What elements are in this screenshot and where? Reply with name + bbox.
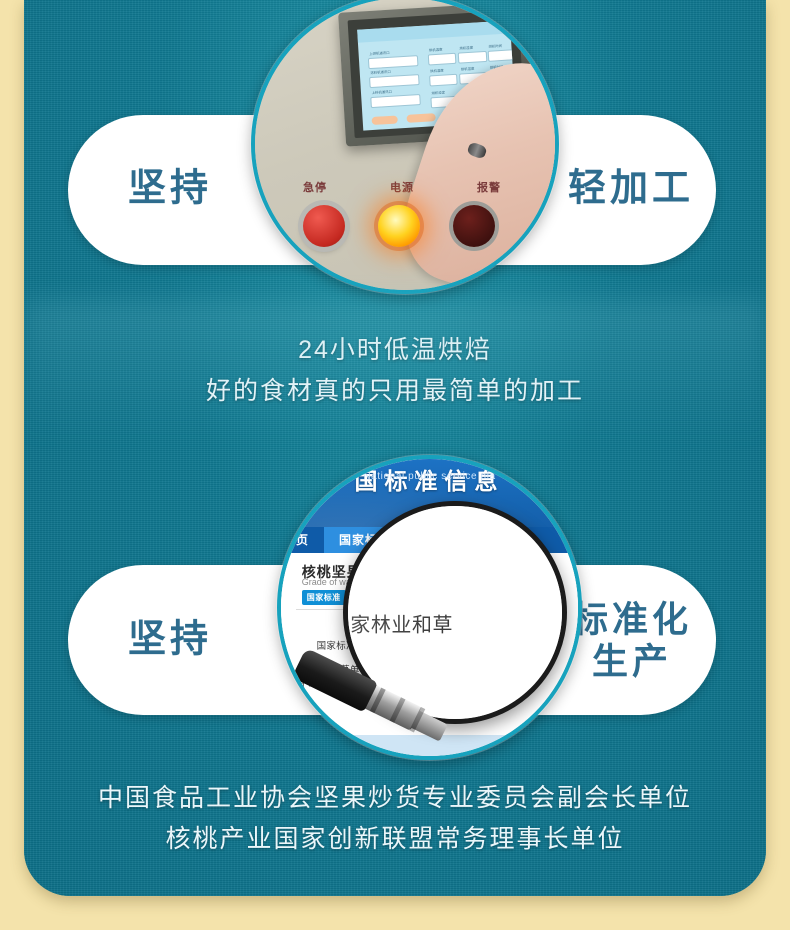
alarm-indicator-lamp[interactable] <box>453 205 495 247</box>
hmi-control-panel-photo: 上烘机通讯口 送料机通讯口 上料机通讯口 烘机温度 烘机湿度 烘机时 <box>251 0 559 294</box>
site-title: 国标准信息 <box>355 462 505 496</box>
nav-item-home[interactable]: 页 <box>281 527 324 552</box>
standards-website-magnifier-photo: 国标准信息 National public service pla 页 国家标准… <box>277 455 582 760</box>
pill-label-right-2: 标准化 生产 <box>572 598 692 682</box>
lamp-label-estop: 急停 <box>303 179 327 195</box>
pill-label-left-1: 坚持 <box>128 167 212 212</box>
panel-lamp-labels: 急停 电源 报警 <box>303 179 501 195</box>
lamp-label-power: 电源 <box>390 179 414 195</box>
lamp-label-alarm: 报警 <box>477 179 501 195</box>
power-indicator-lamp[interactable] <box>378 205 420 247</box>
site-subtitle: National public service pla <box>363 471 495 482</box>
pill-label-left-2: 坚持 <box>128 618 212 663</box>
caption-1-line-2: 好的食材真的只用最简单的加工 <box>24 371 766 412</box>
caption-1-line-1: 24小时低温烘焙 <box>24 330 766 371</box>
tag-national-standard: 国家标准 <box>302 590 346 605</box>
panel-lamp-row <box>303 205 495 247</box>
emergency-stop-button[interactable] <box>303 205 345 247</box>
caption-2-line-1: 中国食品工业协会坚果炒货专业委员会副会长单位 <box>24 778 766 819</box>
magnified-line: 行，主管部门为国家林业和草 <box>343 608 453 637</box>
product-detail-page: 坚持 轻加工 上烘机通讯口 送料机通讯口 上料机通讯口 <box>0 0 790 930</box>
hmi-home-button[interactable] <box>407 113 437 123</box>
teal-content-panel: 坚持 轻加工 上烘机通讯口 送料机通讯口 上料机通讯口 <box>24 0 766 896</box>
caption-2-line-2: 核桃产业国家创新联盟常务理事长单位 <box>24 819 766 860</box>
hmi-confirm-button[interactable] <box>372 115 398 125</box>
pill-label-right-1: 轻加工 <box>568 167 694 212</box>
